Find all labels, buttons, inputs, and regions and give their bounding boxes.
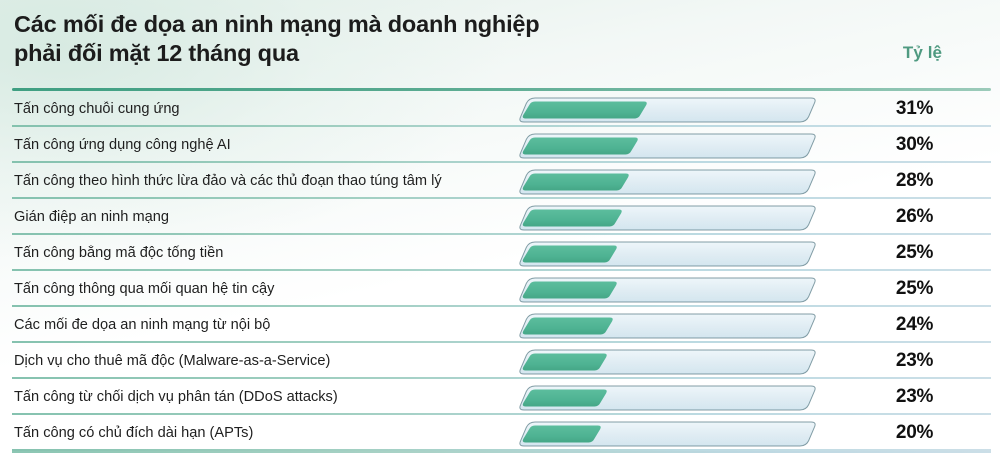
bar-track — [517, 241, 805, 265]
bar-track — [517, 421, 805, 445]
table-row: Gián điệp an ninh mạng26% — [0, 199, 1000, 235]
page-title: Các mối đe dọa an ninh mạng mà doanh ngh… — [14, 10, 694, 68]
threat-label: Dịch vụ cho thuê mã độc (Malware-as-a-Se… — [0, 353, 505, 370]
bar-track — [517, 385, 805, 409]
table-row: Tấn công thông qua mối quan hệ tin cậy25… — [0, 271, 1000, 307]
chart-canvas: Các mối đe dọa an ninh mạng mà doanh ngh… — [0, 0, 1000, 464]
threat-label: Tấn công chuỗi cung ứng — [0, 101, 505, 118]
percentage-value: 28% — [841, 170, 1000, 192]
threat-label: Tấn công bằng mã độc tống tiền — [0, 245, 505, 262]
threat-label: Tấn công ứng dụng công nghệ AI — [0, 137, 505, 154]
bar-track — [517, 277, 805, 301]
threat-rows-list: Tấn công chuỗi cung ứng31%Tấn công ứng d… — [0, 91, 1000, 451]
bar-cell — [505, 199, 841, 235]
bar-track — [517, 313, 805, 337]
bar-cell — [505, 343, 841, 379]
bar-cell — [505, 127, 841, 163]
threat-label: Tấn công từ chối dịch vụ phân tán (DDoS … — [0, 389, 505, 406]
bar-cell — [505, 271, 841, 307]
bottom-divider — [12, 451, 991, 453]
bar-track — [517, 97, 805, 121]
threat-label: Tấn công thông qua mối quan hệ tin cậy — [0, 281, 505, 298]
percentage-value: 26% — [841, 206, 1000, 228]
bar-cell — [505, 235, 841, 271]
threat-label: Các mối đe dọa an ninh mạng từ nội bộ — [0, 317, 505, 334]
table-row: Dịch vụ cho thuê mã độc (Malware-as-a-Se… — [0, 343, 1000, 379]
bar-track — [517, 205, 805, 229]
bar-cell — [505, 307, 841, 343]
bar-cell — [505, 379, 841, 415]
bar-track — [517, 169, 805, 193]
percentage-value: 25% — [841, 278, 1000, 300]
threat-label: Tấn công có chủ đích dài hạn (APTs) — [0, 425, 505, 442]
table-row: Tấn công theo hình thức lừa đảo và các t… — [0, 163, 1000, 199]
percentage-value: 23% — [841, 350, 1000, 372]
bar-cell — [505, 415, 841, 451]
percentage-value: 23% — [841, 386, 1000, 408]
table-row: Các mối đe dọa an ninh mạng từ nội bộ24% — [0, 307, 1000, 343]
bar-track — [517, 349, 805, 373]
bar-cell — [505, 91, 841, 127]
table-row: Tấn công bằng mã độc tống tiền25% — [0, 235, 1000, 271]
percentage-value: 30% — [841, 134, 1000, 156]
bar-cell — [505, 163, 841, 199]
percentage-value: 25% — [841, 242, 1000, 264]
table-row: Tấn công ứng dụng công nghệ AI30% — [0, 127, 1000, 163]
threat-label: Tấn công theo hình thức lừa đảo và các t… — [0, 173, 505, 190]
rate-column-header: Tỷ lệ — [845, 43, 1000, 63]
bar-track — [517, 133, 805, 157]
percentage-value: 20% — [841, 422, 1000, 444]
threat-label: Gián điệp an ninh mạng — [0, 209, 505, 226]
table-row: Tấn công từ chối dịch vụ phân tán (DDoS … — [0, 379, 1000, 415]
percentage-value: 24% — [841, 314, 1000, 336]
table-row: Tấn công có chủ đích dài hạn (APTs)20% — [0, 415, 1000, 451]
percentage-value: 31% — [841, 98, 1000, 120]
chart-header: Các mối đe dọa an ninh mạng mà doanh ngh… — [0, 0, 1000, 78]
table-row: Tấn công chuỗi cung ứng31% — [0, 91, 1000, 127]
